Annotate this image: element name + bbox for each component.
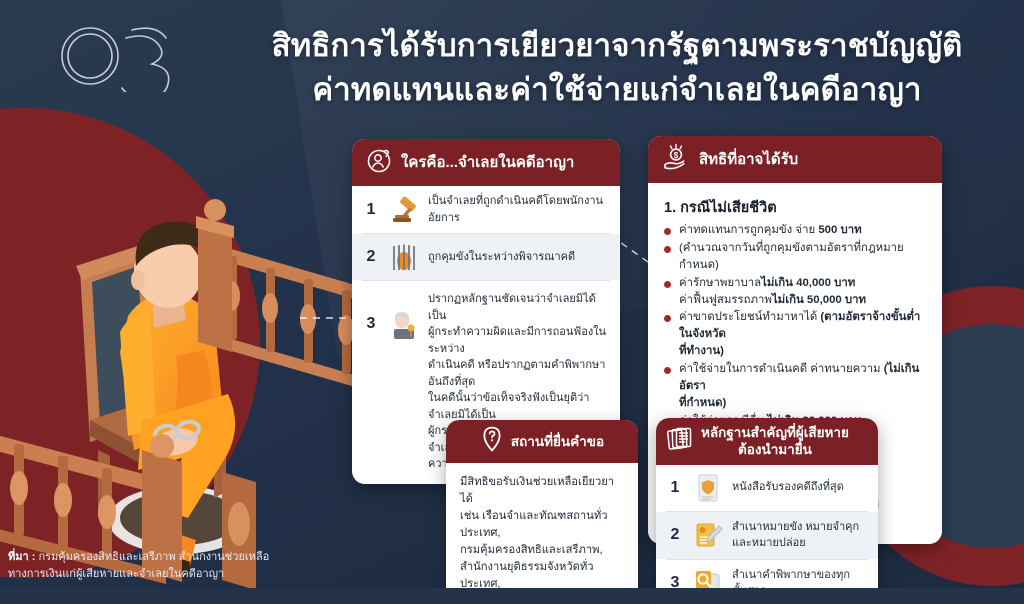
gavel-icon <box>388 194 420 226</box>
map-pin-question-icon <box>480 426 504 457</box>
defendant-in-dock-illustration <box>0 120 400 590</box>
card-rights-header: $ สิทธิที่อาจได้รับ <box>648 136 942 183</box>
svg-text:$: $ <box>674 151 679 160</box>
item-text: สำเนาหมายขัง หมายจำคุก และหมายปล่อย <box>732 519 859 552</box>
item-number: 3 <box>362 315 380 333</box>
rights-section-heading: 1. กรณีไม่เสียชีวิต <box>664 196 928 219</box>
rights-section-list: ค่าทดแทนการถูกคุมขัง จ่าย 500 บาท (คำนวณ… <box>664 222 928 430</box>
source-footer: ที่มา : กรมคุ้มครองสิทธิและเสรีภาพ สำนัก… <box>8 533 388 583</box>
infographic-canvas: สิทธิการได้รับการเยียวยาจากรัฐตามพระราชบ… <box>0 0 1024 604</box>
section-number-badge <box>56 22 196 92</box>
item-text: ถูกคุมขังในระหว่างพิจารณาคดี <box>428 249 575 266</box>
judge-icon <box>388 309 420 341</box>
card-place-body: มีสิทธิขอรับเงินช่วยเหลือเยียวยาได้ เช่น… <box>446 463 638 604</box>
card-evidence-header: หลักฐานสำคัญที่ผู้เสียหาย ต้องนำมายื่น <box>656 418 878 465</box>
place-body-text: มีสิทธิขอรับเงินช่วยเหลือเยียวยาได้ เช่น… <box>460 474 624 604</box>
jail-bars-icon <box>388 241 420 273</box>
item-number: 1 <box>362 201 380 219</box>
list-item: 2 สำเนาหมายขัง หมายจำคุก และหมายปล่อย <box>656 512 878 559</box>
list-item: 1 เป็นจำเลยที่ถูกดำเนินคดีโดยพนักงานอัยก… <box>352 186 620 233</box>
card-place-header: สถานที่ยื่นคำขอ <box>446 420 638 463</box>
card-place-title: สถานที่ยื่นคำขอ <box>511 433 604 450</box>
card-required-evidence: หลักฐานสำคัญที่ผู้เสียหาย ต้องนำมายื่น 1… <box>656 418 878 604</box>
page-title-line1: สิทธิการได้รับการเยียวยาจากรัฐตามพระราชบ… <box>232 24 1002 68</box>
bullet-item: ค่าขาดประโยชน์ทำมาหาได้ (ตามอัตราจ้างขั้… <box>664 309 928 360</box>
list-item: 2 ถูกคุมขังในระหว่างพิจารณาคดี <box>352 234 620 280</box>
page-title: สิทธิการได้รับการเยียวยาจากรัฐตามพระราชบ… <box>232 24 1002 112</box>
hand-holding-coin-icon: $ <box>662 143 690 176</box>
item-number: 1 <box>666 479 684 497</box>
card-evidence-title: หลักฐานสำคัญที่ผู้เสียหาย ต้องนำมายื่น <box>701 424 849 459</box>
bullet-item: (คำนวณจากวันที่ถูกคุมขังตามอัตราที่กฎหมา… <box>664 240 928 274</box>
item-number: 2 <box>362 248 380 266</box>
card-evidence-body: 1 หนังสือรับรองคดีถึงที่สุด 2 <box>656 465 878 604</box>
signed-doc-icon <box>692 519 724 551</box>
certificate-doc-icon <box>692 472 724 504</box>
list-item: 1 หนังสือรับรองคดีถึงที่สุด <box>656 465 878 511</box>
bullet-item: ค่ารักษาพยาบาลไม่เกิน 40,000 บาท ค่าฟื้น… <box>664 275 928 309</box>
source-label: ที่มา : <box>8 551 35 563</box>
card-who-title: ใครคือ...จำเลยในคดีอาญา <box>401 153 574 172</box>
bullet-item: ค่าทดแทนการถูกคุมขัง จ่าย 500 บาท <box>664 222 928 239</box>
person-question-icon <box>366 147 392 178</box>
card-rights-title: สิทธิที่อาจได้รับ <box>699 150 798 169</box>
documents-stack-icon <box>666 425 694 458</box>
item-text: หนังสือรับรองคดีถึงที่สุด <box>732 479 844 496</box>
card-who-header: ใครคือ...จำเลยในคดีอาญา <box>352 139 620 186</box>
bullet-item: ค่าใช้จ่ายในการดำเนินคดี ค่าทนายความ (ไม… <box>664 361 928 412</box>
footer-bar <box>0 588 1024 604</box>
item-number: 2 <box>666 526 684 544</box>
card-application-place: สถานที่ยื่นคำขอ มีสิทธิขอรับเงินช่วยเหลื… <box>446 420 638 604</box>
item-text: เป็นจำเลยที่ถูกดำเนินคดีโดยพนักงานอัยการ <box>428 193 607 226</box>
page-title-line2: ค่าทดแทนและค่าใช้จ่ายแก่จำเลยในคดีอาญา <box>232 68 1002 112</box>
source-text: กรมคุ้มครองสิทธิและเสรีภาพ สำนักงานช่วยเ… <box>8 551 269 580</box>
